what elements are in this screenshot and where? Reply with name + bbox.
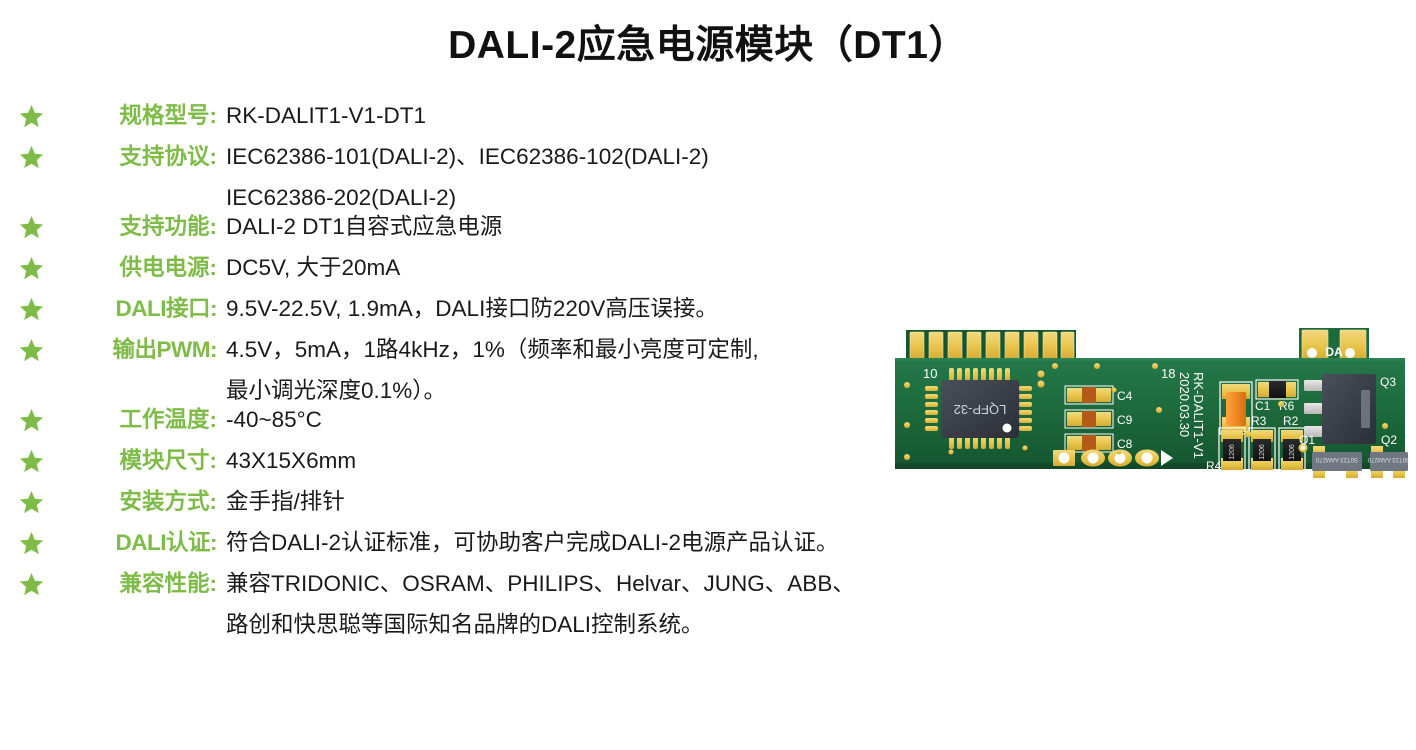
star-icon: [19, 338, 44, 363]
da-connector-tab: DA: [1299, 328, 1369, 360]
bottom-pad-group: [1053, 450, 1173, 467]
spec-value-line: IEC62386-101(DALI-2)、IEC62386-102(DALI-2…: [226, 142, 980, 171]
star-icon-cell: [0, 528, 62, 556]
spec-value: DALI-2 DT1自容式应急电源: [217, 212, 980, 241]
spec-value-line: 9.5V-22.5V, 1.9mA，DALI接口防220V高压误接。: [226, 294, 980, 323]
silkscreen-c8: C8: [1117, 437, 1133, 451]
spec-row-pwm-output: 输出PWM: 4.5V，5mA，1路4kHz，1%（频率和最小亮度可定制, 最小…: [0, 335, 980, 405]
spec-value-line: 金手指/排针: [226, 487, 980, 516]
silkscreen-r3: R3: [1251, 414, 1267, 428]
spec-label: DALI接口:: [62, 294, 217, 323]
spec-row-operating-temperature: 工作温度: -40~85°C: [0, 405, 980, 446]
silkscreen-board-name: RK-DALIT1-V1: [1191, 372, 1206, 459]
star-icon: [19, 490, 44, 515]
spec-value: 4.5V，5mA，1路4kHz，1%（频率和最小亮度可定制, 最小调光深度0.1…: [217, 335, 980, 405]
star-icon-cell: [0, 212, 62, 240]
spec-value-line: RK-DALIT1-V1-DT1: [226, 101, 980, 130]
spec-value: -40~85°C: [217, 405, 980, 434]
spec-row-function: 支持功能: DALI-2 DT1自容式应急电源: [0, 212, 980, 253]
spec-value: RK-DALIT1-V1-DT1: [217, 101, 980, 130]
spec-label: 支持协议:: [62, 142, 217, 171]
spec-row-dali-certification: DALI认证: 符合DALI-2认证标准，可协助客户完成DALI-2电源产品认证…: [0, 528, 980, 569]
product-spec-page: { "title": "DALI-2应急电源模块（DT1）", "colors"…: [0, 0, 1416, 750]
star-icon: [19, 104, 44, 129]
spec-value-line: 路创和快思聪等国际知名品牌的DALI控制系统。: [226, 610, 980, 639]
star-icon-cell: [0, 294, 62, 322]
spec-value-line: 43X15X6mm: [226, 446, 980, 475]
silkscreen-c1: C1: [1255, 399, 1271, 413]
star-icon-cell: [0, 569, 62, 597]
spec-row-model: 规格型号: RK-DALIT1-V1-DT1: [0, 101, 980, 142]
spec-label: 支持功能:: [62, 212, 217, 241]
star-icon: [19, 572, 44, 597]
spec-label: 输出PWM:: [62, 335, 217, 364]
spec-value-line: DC5V, 大于20mA: [226, 253, 980, 282]
spec-value: DC5V, 大于20mA: [217, 253, 980, 282]
spec-value: 符合DALI-2认证标准，可协助客户完成DALI-2电源产品认证。: [217, 528, 980, 557]
spec-value: IEC62386-101(DALI-2)、IEC62386-102(DALI-2…: [217, 142, 980, 212]
silkscreen-c9: C9: [1117, 413, 1133, 427]
page-title: DALI-2应急电源模块（DT1）: [0, 14, 1416, 70]
silkscreen-c4: C4: [1117, 389, 1133, 403]
spec-label: 供电电源:: [62, 253, 217, 282]
spec-value: 兼容TRIDONIC、OSRAM、PHILIPS、Helvar、JUNG、ABB…: [217, 569, 980, 639]
svg-text:1206: 1206: [1259, 444, 1266, 460]
spec-value: 43X15X6mm: [217, 446, 980, 475]
pcb-board-image: DA 10 18: [893, 300, 1409, 515]
gold-finger-tab-group: [906, 330, 1076, 360]
silkscreen-q3: Q3: [1380, 375, 1396, 389]
star-icon: [19, 449, 44, 474]
spec-label: DALI认证:: [62, 528, 217, 557]
silkscreen-chip-label: LQFP-32: [954, 402, 1007, 417]
svg-text:1206: 1206: [1229, 444, 1236, 460]
spec-label: 规格型号:: [62, 101, 217, 130]
spec-label: 安装方式:: [62, 487, 217, 516]
spec-value-line: 符合DALI-2认证标准，可协助客户完成DALI-2电源产品认证。: [226, 528, 980, 557]
star-icon-cell: [0, 142, 62, 170]
silkscreen-board-date: 2020.03.30: [1177, 372, 1192, 437]
spec-label: 兼容性能:: [62, 569, 217, 598]
spec-value: 金手指/排针: [217, 487, 980, 516]
capacitor-pad-group: C4 C9 C8: [1065, 386, 1133, 452]
star-icon: [19, 145, 44, 170]
silkscreen-r4: R4: [1206, 459, 1222, 473]
spec-row-mounting: 安装方式: 金手指/排针: [0, 487, 980, 528]
star-icon: [19, 408, 44, 433]
pcb-illustration: DA 10 18: [893, 300, 1409, 515]
svg-text:S0T23 AAM270: S0T23 AAM270: [1315, 456, 1358, 462]
star-icon: [19, 531, 44, 556]
star-icon-cell: [0, 405, 62, 433]
spec-value-line: 兼容TRIDONIC、OSRAM、PHILIPS、Helvar、JUNG、ABB…: [226, 569, 980, 598]
spec-value-line: 4.5V，5mA，1路4kHz，1%（频率和最小亮度可定制,: [226, 335, 980, 364]
spec-list: 规格型号: RK-DALIT1-V1-DT1 支持协议: IEC62386-10…: [0, 101, 980, 639]
silkscreen-da-label: DA: [1325, 345, 1343, 359]
spec-value-line: 最小调光深度0.1%）。: [226, 376, 980, 405]
silkscreen-pin-18: 18: [1161, 366, 1175, 381]
star-icon: [19, 215, 44, 240]
star-icon-cell: [0, 101, 62, 129]
star-icon: [19, 256, 44, 281]
spec-row-compatibility: 兼容性能: 兼容TRIDONIC、OSRAM、PHILIPS、Helvar、JU…: [0, 569, 980, 639]
spec-value-line: IEC62386-202(DALI-2): [226, 183, 980, 212]
spec-value-line: DALI-2 DT1自容式应急电源: [226, 212, 980, 241]
star-icon-cell: [0, 335, 62, 363]
spec-row-power-supply: 供电电源: DC5V, 大于20mA: [0, 253, 980, 294]
silkscreen-pin-10: 10: [923, 366, 937, 381]
star-icon-cell: [0, 446, 62, 474]
spec-label: 工作温度:: [62, 405, 217, 434]
star-icon: [19, 297, 44, 322]
silkscreen-q2: Q2: [1381, 433, 1397, 447]
spec-row-dali-interface: DALI接口: 9.5V-22.5V, 1.9mA，DALI接口防220V高压误…: [0, 294, 980, 335]
svg-text:S0T23 AAM270: S0T23 AAM270: [1367, 456, 1409, 462]
spec-row-protocol: 支持协议: IEC62386-101(DALI-2)、IEC62386-102(…: [0, 142, 980, 212]
spec-row-module-size: 模块尺寸: 43X15X6mm: [0, 446, 980, 487]
svg-text:1206: 1206: [1289, 444, 1296, 460]
spec-label: 模块尺寸:: [62, 446, 217, 475]
spec-value-line: -40~85°C: [226, 405, 980, 434]
silkscreen-r2: R2: [1283, 414, 1299, 428]
star-icon-cell: [0, 253, 62, 281]
star-icon-cell: [0, 487, 62, 515]
spec-value: 9.5V-22.5V, 1.9mA，DALI接口防220V高压误接。: [217, 294, 980, 323]
